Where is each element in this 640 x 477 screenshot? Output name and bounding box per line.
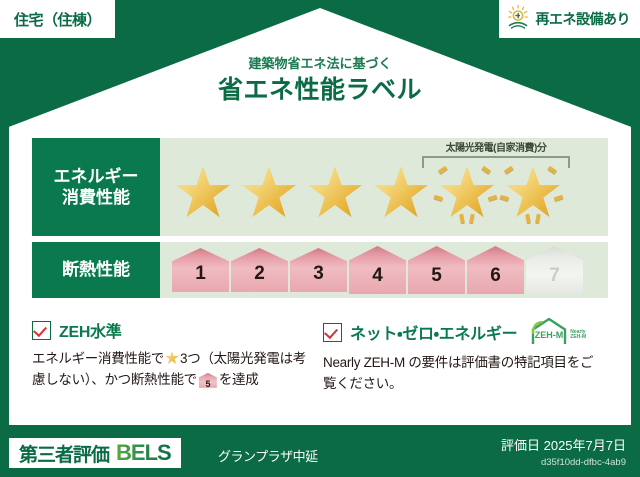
renewable-equipment-label: 再エネ設備あり — [536, 9, 631, 29]
note-nze-title: ネット・ゼロ・エネルギー — [350, 320, 517, 344]
insulation-grade-2: 2 — [231, 248, 288, 292]
note-zeh-standard: ZEH水準 エネルギー消費性能で3つ（太陽光発電は考慮しない）、かつ断熱性能で5… — [32, 318, 323, 402]
insulation-grade-number: 1 — [195, 264, 206, 292]
energy-label-line1: エネルギー — [54, 166, 139, 187]
star-icon — [304, 162, 366, 224]
star-shape — [175, 165, 231, 221]
star-ray-icon — [500, 195, 510, 202]
star-shape — [505, 165, 561, 221]
zeh-m-logo-subtext: Nearly ZEH-M — [570, 330, 586, 346]
insulation-grade-number: 5 — [431, 266, 442, 294]
notes-section: ZEH水準 エネルギー消費性能で3つ（太陽光発電は考慮しない）、かつ断熱性能で5… — [32, 318, 614, 402]
insulation-grade-6: 6 — [467, 246, 524, 294]
check-icon-nze[interactable] — [323, 323, 342, 342]
footer: 第三者評価 BELS グランプラザ中延 評価日 2025年7月7日 d35f10… — [0, 429, 640, 477]
star-icon-solar — [436, 162, 498, 224]
star-icon — [370, 162, 432, 224]
evaluation-date-value: 2025年7月7日 — [544, 438, 626, 453]
solar-bracket — [422, 156, 570, 168]
insulation-grade-7: 7 — [526, 246, 583, 294]
energy-performance-value: 太陽光発電(自家消費)分 — [160, 138, 608, 236]
insulation-grade-3: 3 — [290, 248, 347, 292]
renewable-equipment-chip: 再エネ設備あり — [499, 0, 640, 38]
star-icon — [238, 162, 300, 224]
zeh-m-logo: ZEH-M Nearly ZEH-M — [529, 317, 586, 345]
insulation-grade-4: 4 — [349, 246, 406, 294]
star-shape — [439, 165, 495, 221]
label-title: 省エネ性能ラベル — [0, 77, 640, 105]
note-zeh-body-part3: を達成 — [219, 372, 259, 387]
solar-contribution-note: 太陽光発電(自家消費)分 — [408, 139, 584, 154]
building-name: グランプラザ中延 — [218, 446, 318, 465]
evaluation-date: 評価日 2025年7月7日 — [501, 438, 626, 455]
star-ray-icon — [488, 195, 498, 202]
note-zeh-header: ZEH水準 — [32, 318, 309, 342]
insulation-grade-number: 2 — [254, 264, 265, 292]
star-ray-icon — [525, 214, 531, 224]
building-type-chip: 住宅（住棟） — [0, 0, 115, 38]
insulation-grade-number: 7 — [549, 266, 560, 294]
star-shape — [373, 165, 429, 221]
note-zeh-title: ZEH水準 — [59, 318, 122, 342]
svg-text:ZEH-M: ZEH-M — [535, 330, 564, 340]
star-ray-icon — [554, 195, 564, 202]
bels-wordmark: BELS — [116, 440, 171, 466]
note-zeh-body-part1: エネルギー消費性能で — [32, 351, 164, 366]
star-ray-icon — [535, 214, 541, 224]
energy-label-card: 住宅（住棟） 再エネ設備あり 建築物省エ — [0, 0, 640, 477]
sun-solar-icon — [505, 4, 531, 35]
energy-label-line2: 消費性能 — [62, 187, 130, 208]
insulation-performance-value: 1234567 — [160, 242, 608, 298]
insulation-grade-number: 6 — [490, 266, 501, 294]
insulation-grade-group: 1234567 — [160, 246, 583, 294]
note-nze-body: Nearly ZEH-M の要件は評価書の特記項目をご覧ください。 — [323, 353, 600, 395]
building-type-label: 住宅（住棟） — [14, 9, 101, 30]
house-grade-icon-inline: 5 — [199, 373, 217, 388]
insulation-grade-number: 4 — [372, 266, 383, 294]
note-zeh-body: エネルギー消費性能で3つ（太陽光発電は考慮しない）、かつ断熱性能で5を達成 — [32, 349, 309, 391]
star-icon-inline — [165, 351, 179, 365]
insulation-performance-label: 断熱性能 — [32, 242, 160, 298]
title-block: 建築物省エネ法に基づく 省エネ性能ラベル — [0, 57, 640, 105]
label-subtitle: 建築物省エネ法に基づく — [0, 57, 640, 71]
evaluation-id: d35f10dd-dfbc-4ab9 — [501, 456, 626, 469]
insulation-grade-5: 5 — [408, 246, 465, 294]
bels-badge: 第三者評価 BELS — [9, 438, 181, 468]
check-icon-zeh[interactable] — [32, 321, 51, 340]
evaluation-date-label: 評価日 — [501, 438, 540, 453]
star-ray-icon — [434, 195, 444, 202]
star-icon — [172, 162, 234, 224]
star-icon-solar — [502, 162, 564, 224]
bels-prefix-label: 第三者評価 — [19, 440, 109, 467]
note-net-zero-energy: ネット・ゼロ・エネルギー ZEH-M Nearly ZEH-M — [323, 318, 614, 402]
star-rating-group — [160, 162, 564, 224]
evaluation-info: 評価日 2025年7月7日 d35f10dd-dfbc-4ab9 — [501, 438, 626, 469]
house-grade-icon-number: 5 — [206, 379, 211, 389]
energy-performance-label: エネルギー 消費性能 — [32, 138, 160, 236]
zeh-m-sub-line2: ZEH-M — [570, 334, 586, 340]
zeh-m-house-icon: ZEH-M — [529, 317, 569, 345]
star-shape — [307, 165, 363, 221]
insulation-performance-row: 断熱性能 1234567 — [32, 242, 608, 298]
star-ray-icon — [469, 214, 475, 224]
insulation-label-text: 断熱性能 — [62, 259, 130, 280]
energy-performance-row: エネルギー 消費性能 太陽光発電(自家消費)分 — [32, 138, 608, 236]
insulation-grade-1: 1 — [172, 248, 229, 292]
insulation-grade-number: 3 — [313, 264, 324, 292]
star-shape — [241, 165, 297, 221]
note-nze-header: ネット・ゼロ・エネルギー ZEH-M Nearly ZEH-M — [323, 318, 600, 346]
star-ray-icon — [459, 214, 465, 224]
